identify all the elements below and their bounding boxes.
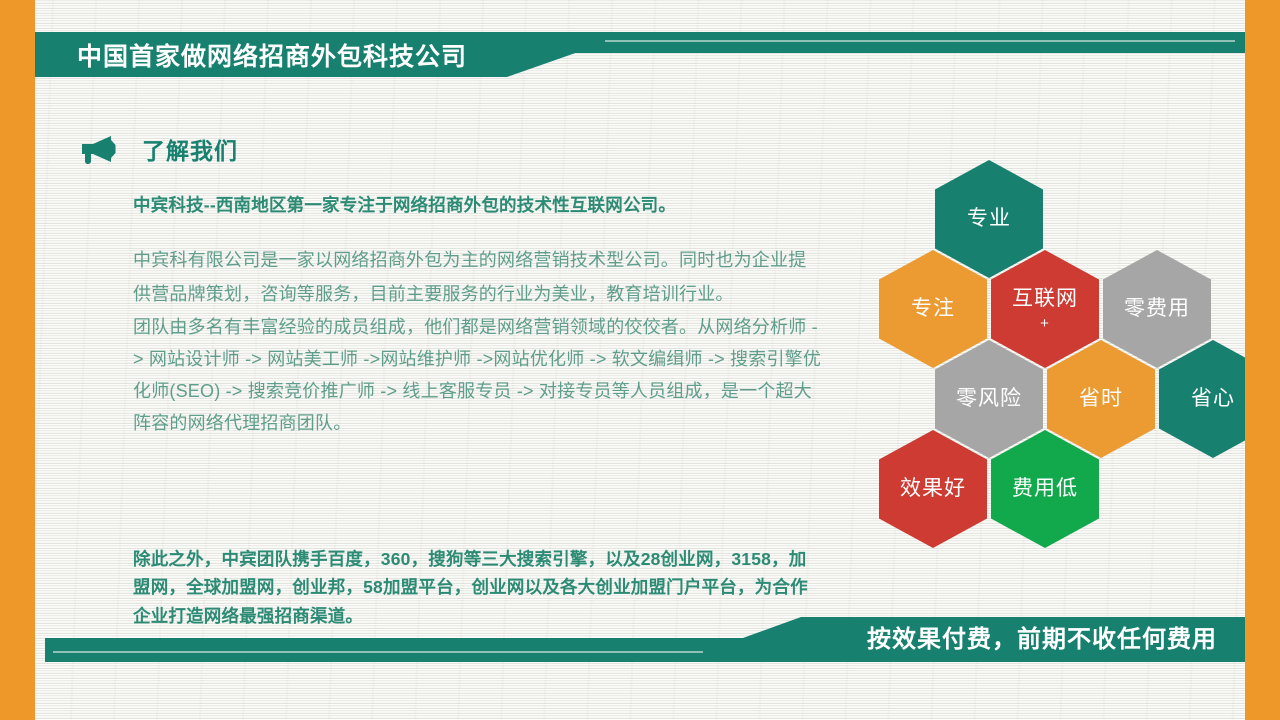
body-paragraph-1: 中宾科有限公司是一家以网络招商外包为主的网络营销技术型公司。同时也为企业提供营品… (133, 244, 823, 311)
footer-tagline: 按效果付费，前期不收任何费用 (867, 619, 1217, 654)
header-title: 中国首家做网络招商外包科技公司 (77, 37, 467, 73)
section-title: 了解我们 (142, 132, 238, 166)
header-band-strip (555, 32, 1245, 53)
slide-root: 中国首家做网络招商外包科技公司 了解我们 中宾科技--西南地区第一家专注于网络招… (0, 0, 1280, 720)
hexagon-label: 零风险 (956, 387, 1022, 411)
body-paragraph-2: 团队由多名有丰富经验的成员组成，他们都是网络营销领域的佼佼者。从网络分析师 ->… (133, 311, 823, 439)
footer-band-accent-line (53, 651, 703, 653)
hexagon-sublabel: + (1040, 316, 1050, 331)
hexagon-cluster: 专业专注互联网+零费用零风险省时省心效果好费用低 (873, 160, 1245, 540)
megaphone-icon (80, 134, 120, 164)
section-heading: 了解我们 (80, 132, 238, 166)
hexagon-label: 互联网 (1012, 287, 1078, 311)
hexagon-label: 省心 (1191, 387, 1235, 411)
lead-paragraph: 中宾科技--西南地区第一家专注于网络招商外包的技术性互联网公司。 (133, 192, 823, 218)
hexagon-label: 专注 (911, 297, 955, 321)
slide-canvas: 中国首家做网络招商外包科技公司 了解我们 中宾科技--西南地区第一家专注于网络招… (35, 0, 1245, 720)
hexagon-label: 省时 (1079, 387, 1123, 411)
hexagon-label: 效果好 (900, 477, 966, 501)
hexagon-label: 费用低 (1012, 477, 1078, 501)
hexagon-label: 零费用 (1124, 297, 1190, 321)
hexagon-label: 专业 (967, 207, 1011, 231)
header-band-accent-line (605, 40, 1235, 42)
footer-band-strip (45, 638, 785, 662)
closing-paragraph: 除此之外，中宾团队携手百度，360，搜狗等三大搜索引擎，以及28创业网，3158… (133, 545, 813, 630)
about-copy: 中宾科技--西南地区第一家专注于网络招商外包的技术性互联网公司。 中宾科有限公司… (133, 192, 823, 439)
